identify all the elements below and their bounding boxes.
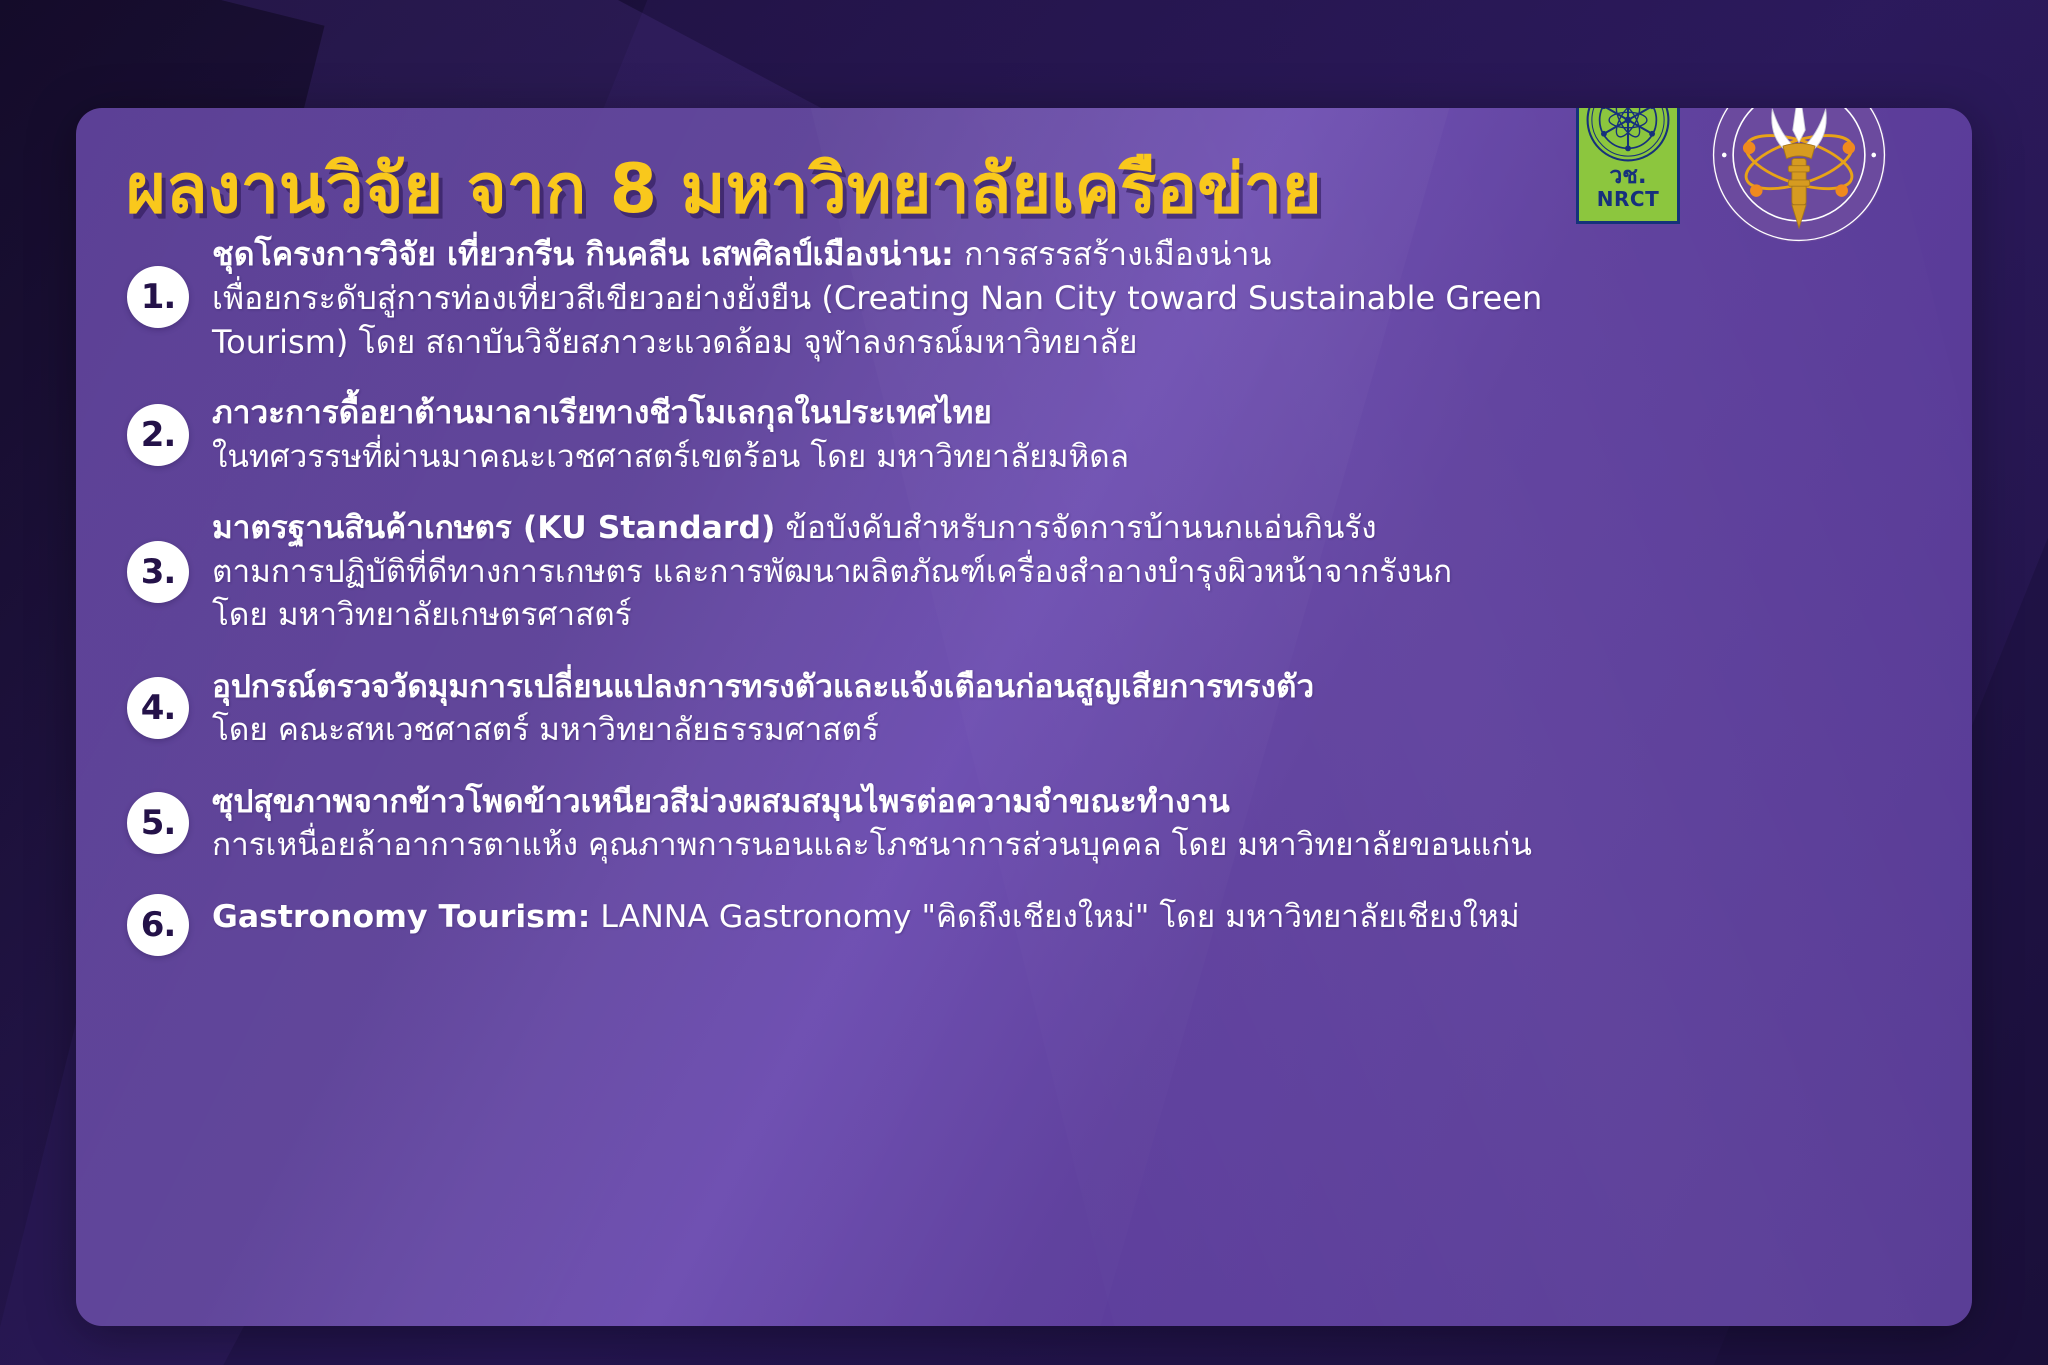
item-text: ภาวะการดื้อยาต้านมาลาเรียทางชีวโมเลกุลใน… xyxy=(212,390,1932,479)
item-line: โดย คณะสหเวชศาสตร์ มหาวิทยาลัยธรรมศาสตร์ xyxy=(212,709,1932,752)
item-text: ชุดโครงการวิจัย เที่ยวกรีน กินคลีน เสพศิ… xyxy=(212,230,1932,364)
item-line-bold: ชุดโครงการวิจัย เที่ยวกรีน กินคลีน เสพศิ… xyxy=(212,235,954,273)
item-line: ชุดโครงการวิจัย เที่ยวกรีน กินคลีน เสพศิ… xyxy=(212,232,1932,276)
item-line: โดย มหาวิทยาลัยเกษตรศาสตร์ xyxy=(212,594,1932,637)
item-text: ซุปสุขภาพจากข้าวโพดข้าวเหนียวสีม่วงผสมสม… xyxy=(212,779,1932,868)
mhesi-logo-icon xyxy=(1710,108,1888,244)
item-text: Gastronomy Tourism: LANNA Gastronomy "คิ… xyxy=(212,894,1932,939)
item-line-normal: ข้อบังคับสำหรับการจัดการบ้านนกแอ่นกินรัง xyxy=(775,510,1376,546)
item-line: ภาวะการดื้อยาต้านมาลาเรียทางชีวโมเลกุลใน… xyxy=(212,392,1932,435)
badge-column: 6. xyxy=(104,894,212,956)
nrct-thai-abbr: วช. xyxy=(1609,165,1646,188)
list-item: 6. Gastronomy Tourism: LANNA Gastronomy … xyxy=(104,894,1932,956)
nrct-english-abbr: NRCT xyxy=(1597,188,1659,210)
item-line-bold: Gastronomy Tourism: xyxy=(212,899,590,935)
item-number-badge: 3. xyxy=(127,541,189,603)
item-line-normal: การเหนื่อยล้าอาการตาแห้ง คุณภาพการนอนและ… xyxy=(212,827,1532,863)
item-number-badge: 2. xyxy=(127,404,189,466)
list-item: 4. อุปกรณ์ตรวจวัดมุมการเปลี่ยนแปลงการทรง… xyxy=(104,664,1932,753)
item-line-bold: อุปกรณ์ตรวจวัดมุมการเปลี่ยนแปลงการทรงตัว… xyxy=(212,669,1314,705)
item-line: ในทศวรรษที่ผ่านมาคณะเวชศาสตร์เขตร้อน โดย… xyxy=(212,436,1932,479)
poster-root: ผลงานวิจัย จาก 8 มหาวิทยาลัยเครือข่าย xyxy=(0,0,2048,1365)
item-line-normal: ในทศวรรษที่ผ่านมาคณะเวชศาสตร์เขตร้อน โดย… xyxy=(212,439,1129,475)
page-title: ผลงานวิจัย จาก 8 มหาวิทยาลัยเครือข่าย xyxy=(126,152,1322,228)
badge-column: 2. xyxy=(104,404,212,466)
item-number-badge: 5. xyxy=(127,792,189,854)
item-text: มาตรฐานสินค้าเกษตร (KU Standard) ข้อบังค… xyxy=(212,505,1932,637)
logo-group: วช. NRCT xyxy=(1576,108,1888,244)
list-item: 1. ชุดโครงการวิจัย เที่ยวกรีน กินคลีน เส… xyxy=(104,230,1932,364)
item-line-normal: ตามการปฏิบัติที่ดีทางการเกษตร และการพัฒน… xyxy=(212,554,1452,590)
list-item: 5. ซุปสุขภาพจากข้าวโพดข้าวเหนียวสีม่วงผส… xyxy=(104,779,1932,868)
list-item: 2. ภาวะการดื้อยาต้านมาลาเรียทางชีวโมเลกุ… xyxy=(104,390,1932,479)
badge-column: 4. xyxy=(104,677,212,739)
item-line: ตามการปฏิบัติที่ดีทางการเกษตร และการพัฒน… xyxy=(212,551,1932,594)
item-line: ซุปสุขภาพจากข้าวโพดข้าวเหนียวสีม่วงผสมสม… xyxy=(212,781,1932,824)
item-line-normal: LANNA Gastronomy "คิดถึงเชียงใหม่" โดย ม… xyxy=(590,899,1519,935)
item-line-normal: Tourism) โดย สถาบันวิจัยสภาวะแวดล้อม จุฬ… xyxy=(212,323,1138,361)
item-line-bold: ซุปสุขภาพจากข้าวโพดข้าวเหนียวสีม่วงผสมสม… xyxy=(212,784,1230,820)
item-line: Tourism) โดย สถาบันวิจัยสภาวะแวดล้อม จุฬ… xyxy=(212,320,1932,364)
item-line: มาตรฐานสินค้าเกษตร (KU Standard) ข้อบังค… xyxy=(212,507,1932,550)
item-line-normal: โดย มหาวิทยาลัยเกษตรศาสตร์ xyxy=(212,597,632,633)
nrct-seal-icon xyxy=(1585,108,1671,163)
content-card: ผลงานวิจัย จาก 8 มหาวิทยาลัยเครือข่าย xyxy=(76,108,1972,1326)
badge-column: 3. xyxy=(104,541,212,603)
item-number-badge: 4. xyxy=(127,677,189,739)
item-line: เพื่อยกระดับสู่การท่องเที่ยวสีเขียวอย่าง… xyxy=(212,276,1932,320)
item-number-badge: 6. xyxy=(127,894,189,956)
item-text: อุปกรณ์ตรวจวัดมุมการเปลี่ยนแปลงการทรงตัว… xyxy=(212,664,1932,753)
item-line-bold: ภาวะการดื้อยาต้านมาลาเรียทางชีวโมเลกุลใน… xyxy=(212,395,992,431)
item-line-normal: การสรรสร้างเมืองน่าน xyxy=(954,235,1272,273)
badge-column: 5. xyxy=(104,792,212,854)
badge-column: 1. xyxy=(104,266,212,328)
item-number-badge: 1. xyxy=(127,266,189,328)
item-line-normal: โดย คณะสหเวชศาสตร์ มหาวิทยาลัยธรรมศาสตร์ xyxy=(212,712,879,748)
research-list: 1. ชุดโครงการวิจัย เที่ยวกรีน กินคลีน เส… xyxy=(104,230,1932,956)
item-line-bold: มาตรฐานสินค้าเกษตร (KU Standard) xyxy=(212,510,775,546)
item-line-normal: เพื่อยกระดับสู่การท่องเที่ยวสีเขียวอย่าง… xyxy=(212,279,1542,317)
item-line: Gastronomy Tourism: LANNA Gastronomy "คิ… xyxy=(212,896,1932,939)
item-line: การเหนื่อยล้าอาการตาแห้ง คุณภาพการนอนและ… xyxy=(212,824,1932,867)
list-item: 3. มาตรฐานสินค้าเกษตร (KU Standard) ข้อบ… xyxy=(104,505,1932,637)
item-line: อุปกรณ์ตรวจวัดมุมการเปลี่ยนแปลงการทรงตัว… xyxy=(212,666,1932,709)
nrct-logo: วช. NRCT xyxy=(1576,108,1680,224)
